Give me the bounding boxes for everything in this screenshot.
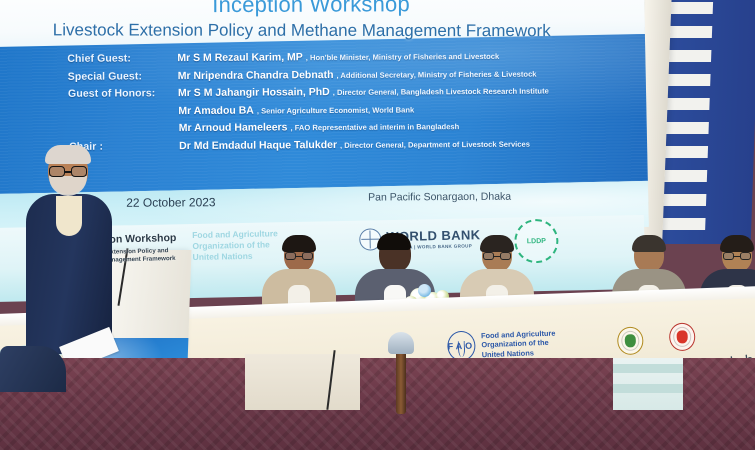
guest-name: Mr Arnoud Hameleers (179, 121, 288, 134)
foreground-chair (613, 358, 683, 410)
event-photo-stage: Inception Workshop Livestock Extension P… (0, 0, 755, 450)
guest-label: Chief Guest: (67, 52, 177, 65)
panelist-head (284, 238, 314, 272)
guest-title: , Hon'ble Minister, Ministry of Fisherie… (303, 52, 499, 62)
foreground-wall (245, 354, 360, 410)
table-fao-logo: FAO Food and Agriculture Organization of… (447, 328, 556, 362)
guest-name: Mr S M Rezaul Karim, MP (177, 51, 303, 64)
hair (720, 235, 754, 252)
dls-emblem-icon (617, 326, 644, 355)
bangladesh-govt-emblem-icon (669, 322, 696, 351)
guest-row: Chair : Dr Md Emdadul Haque Talukder , D… (69, 136, 629, 157)
glasses-icon (49, 166, 87, 177)
glasses-icon (483, 252, 511, 260)
guest-name: Dr Md Emdadul Haque Talukder (179, 138, 337, 151)
table-fao-text: Food and Agriculture Organization of the… (481, 328, 556, 359)
guest-title: , Director General, Department of Livest… (337, 139, 530, 149)
guest-label: Guest of Honors: (68, 87, 178, 100)
slide-venue: Pan Pacific Sonargaon, Dhaka (368, 191, 511, 204)
hair (377, 233, 411, 250)
guest-name: Mr S M Jahangir Hossain, PhD (178, 86, 330, 99)
fao-icon: FAO (447, 331, 476, 362)
hair (282, 235, 316, 252)
hair (480, 235, 514, 252)
glasses-icon (723, 252, 751, 260)
guest-title: , FAO Representative ad interim in Bangl… (287, 122, 459, 132)
panelist-head (722, 238, 752, 272)
hair (632, 235, 666, 252)
guest-name: Mr Nripendra Chandra Debnath (178, 69, 334, 82)
lamp-head (388, 332, 414, 354)
slide-subtitle: Livestock Extension Policy and Methane M… (53, 20, 551, 41)
guest-label: Special Guest: (68, 70, 178, 83)
guest-title: , Additional Secretary, Ministry of Fish… (333, 69, 536, 79)
slide-date: 22 October 2023 (126, 195, 215, 210)
hair (45, 145, 91, 164)
guest-label (69, 131, 179, 132)
collar (56, 196, 82, 236)
guest-name: Mr Amadou BA (178, 104, 254, 117)
slide-title: Inception Workshop (212, 0, 410, 18)
guest-list: Chief Guest: Mr S M Rezaul Karim, MP , H… (67, 45, 629, 161)
panelist-head (482, 238, 512, 272)
beard (49, 176, 87, 196)
panelist-head (379, 236, 411, 272)
lamp-post (396, 348, 406, 414)
guest-title: , Director General, Bangladesh Livestock… (330, 87, 549, 98)
loudspeaker (0, 346, 66, 392)
guest-title: , Senior Agriculture Economist, World Ba… (254, 105, 414, 115)
glasses-icon (285, 252, 313, 260)
guest-label (68, 114, 178, 115)
panelist-head (634, 238, 664, 272)
